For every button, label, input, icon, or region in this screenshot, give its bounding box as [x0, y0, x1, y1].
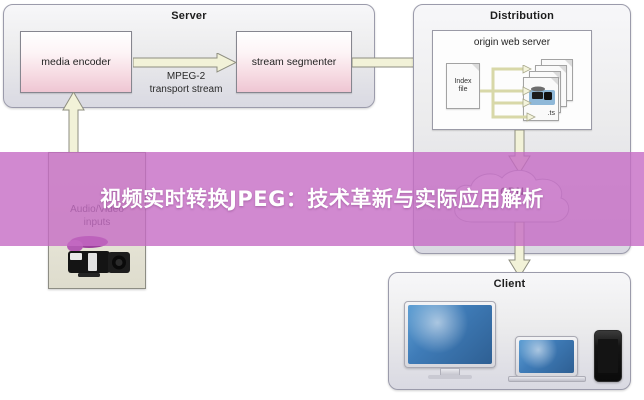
document-fold-corner: [551, 78, 558, 85]
index-to-segments-connectors: [479, 65, 541, 128]
client-group-title: Client: [389, 278, 630, 290]
article-title-text: 视频实时转换JPEG：技术革新与实际应用解析: [100, 183, 544, 215]
index-file-line1: Index: [447, 78, 479, 86]
article-title-banner: 视频实时转换JPEG：技术革新与实际应用解析: [0, 152, 644, 246]
diagram-canvas: Server media encoder stream segmenter MP…: [0, 0, 644, 400]
origin-web-server-label: origin web server: [433, 37, 591, 48]
mpeg2-label-line2: transport stream: [138, 83, 234, 96]
laptop-device: [515, 336, 578, 377]
laptop-base: [508, 376, 586, 382]
index-file-line2: file: [447, 86, 479, 94]
desktop-monitor-screen: [408, 305, 492, 364]
stream-segmenter-box: stream segmenter: [236, 31, 352, 93]
media-encoder-box: media encoder: [20, 31, 132, 93]
index-file-document: Index file: [446, 63, 480, 109]
index-file-text: Index file: [447, 78, 479, 94]
desktop-monitor-device: [404, 301, 496, 368]
origin-web-server-panel: origin web server Index file: [432, 30, 592, 130]
arrow-right-encoder-to-segmenter: [133, 53, 237, 73]
server-group-title: Server: [4, 10, 374, 22]
document-fold-corner: [472, 64, 479, 71]
distribution-group-title: Distribution: [414, 10, 630, 22]
smartphone-device: [594, 330, 622, 382]
media-encoder-label: media encoder: [41, 56, 110, 68]
mpeg2-transport-stream-label: MPEG-2 transport stream: [138, 70, 234, 96]
stream-segmenter-label: stream segmenter: [252, 56, 337, 68]
laptop-screen: [519, 340, 574, 373]
desktop-monitor-base: [428, 375, 472, 379]
smartphone-screen: [598, 339, 618, 373]
